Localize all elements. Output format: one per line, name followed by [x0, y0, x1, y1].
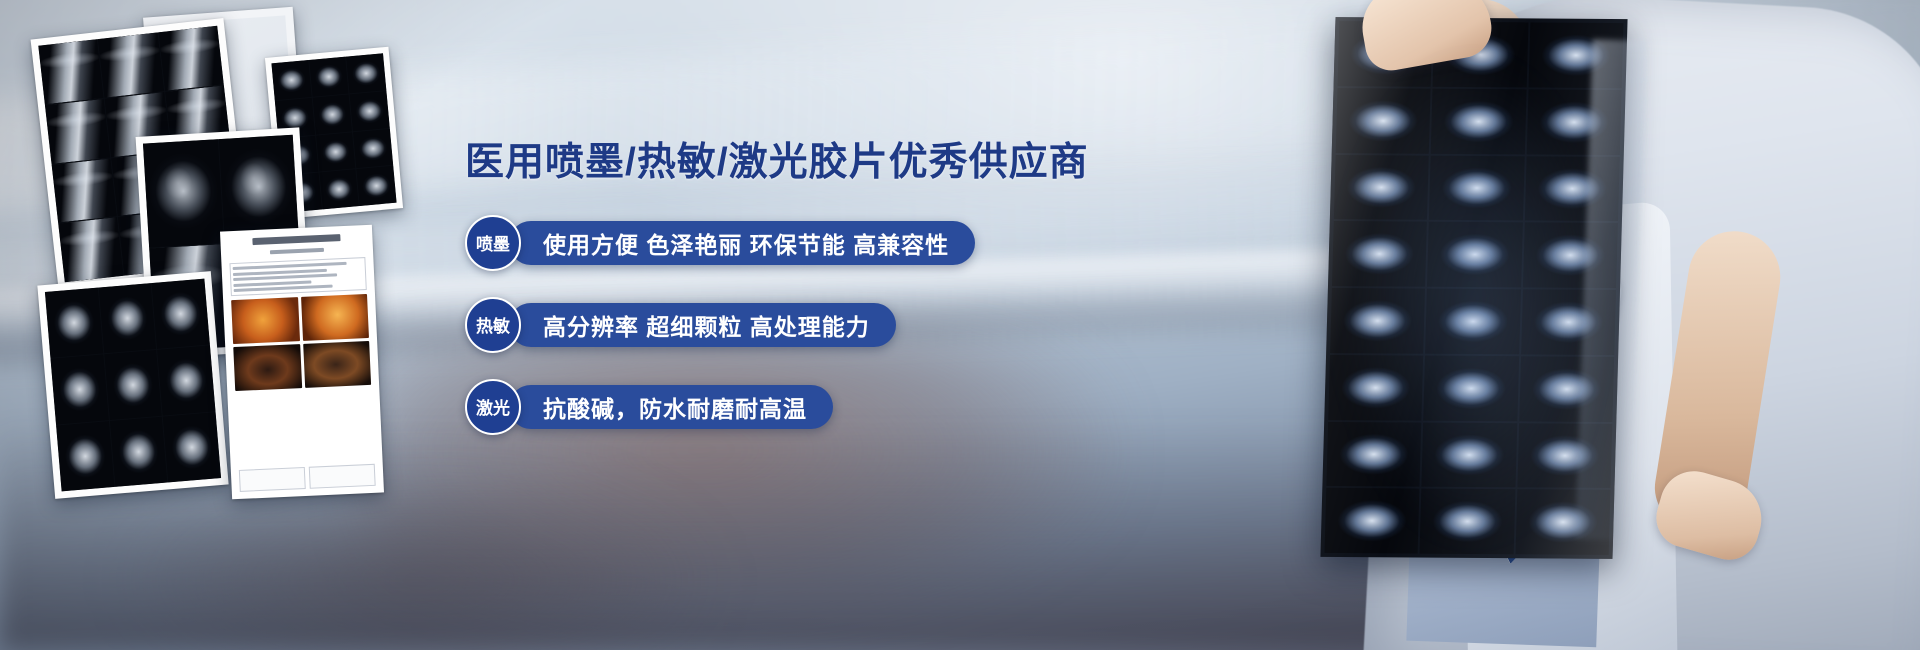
feature-item-thermal: 热敏 高分辨率 超细颗粒 高处理能力 [465, 297, 1105, 353]
banner-headline: 医用喷墨/热敏/激光胶片优秀供应商 [465, 142, 1105, 185]
report-footer [239, 464, 376, 492]
feature-item-laser: 激光 抗酸碱，防水耐磨耐高温 [465, 379, 1105, 435]
feature-text-thermal: 高分辨率 超细颗粒 高处理能力 [509, 303, 896, 347]
report-title-bar [253, 234, 340, 245]
report-text-block [229, 257, 366, 296]
report-image-grid [231, 294, 371, 391]
doctor-holding-mri-film [1090, 0, 1920, 650]
banner-content: 医用喷墨/热敏/激光胶片优秀供应商 喷墨 使用方便 色泽艳丽 环保节能 高兼容性… [465, 142, 1105, 435]
feature-text-laser: 抗酸碱，防水耐磨耐高温 [509, 385, 833, 429]
film-plate [45, 279, 221, 492]
feature-item-inkjet: 喷墨 使用方便 色泽艳丽 环保节能 高兼容性 [465, 215, 1105, 271]
ultrasound-photo-2 [303, 341, 371, 388]
feature-badge-thermal: 热敏 [465, 297, 521, 353]
report-subtitle-bar [270, 248, 325, 254]
scan-grid [45, 279, 221, 492]
feature-text-inkjet: 使用方便 色泽艳丽 环保节能 高兼容性 [509, 221, 975, 265]
promo-banner: 医用喷墨/热敏/激光胶片优秀供应商 喷墨 使用方便 色泽艳丽 环保节能 高兼容性… [0, 0, 1920, 650]
retina-photo-1 [231, 297, 299, 344]
feature-badge-laser: 激光 [465, 379, 521, 435]
report-body [220, 225, 384, 500]
feature-badge-inkjet: 喷墨 [465, 215, 521, 271]
feature-list: 喷墨 使用方便 色泽艳丽 环保节能 高兼容性 热敏 高分辨率 超细颗粒 高处理能… [465, 215, 1105, 435]
ultrasound-photo-1 [233, 344, 301, 391]
film-color-medical-report [220, 225, 384, 500]
medical-film-collage [24, 10, 424, 520]
retina-photo-2 [301, 294, 369, 341]
film-mri-brain-grid [37, 271, 228, 499]
